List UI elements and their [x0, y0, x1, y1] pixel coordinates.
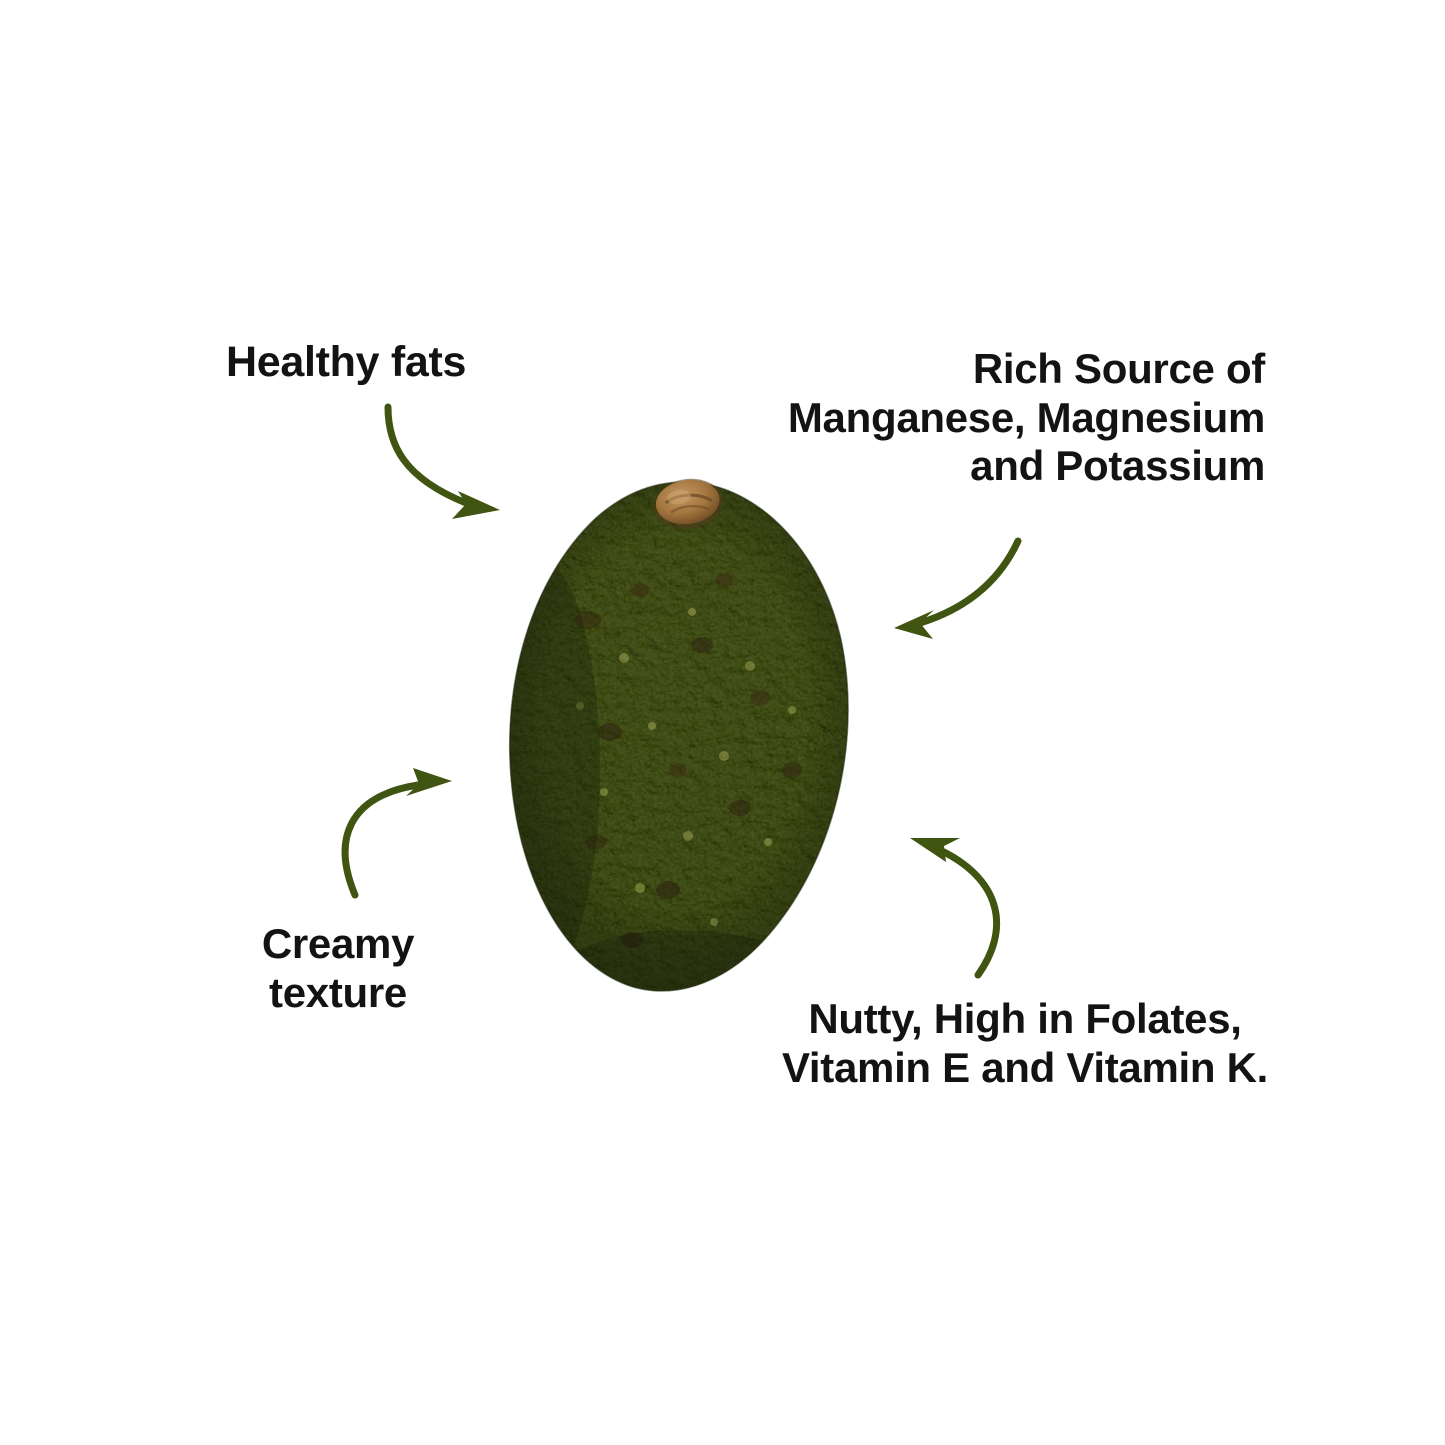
arrow-healthy-fats — [388, 407, 500, 519]
callout-label-nutty: Nutty, High in Folates, Vitamin E and Vi… — [782, 995, 1268, 1092]
callout-label-healthy-fats: Healthy fats — [226, 338, 466, 388]
avocado-body — [492, 470, 877, 1015]
avocado-illustration — [492, 470, 877, 1015]
arrow-creamy-texture — [345, 768, 452, 895]
callout-label-creamy-texture: Creamy texture — [258, 920, 418, 1017]
avocado-image — [492, 470, 877, 1015]
arrow-nutty — [910, 838, 997, 975]
arrow-rich-source — [894, 541, 1018, 639]
infographic-canvas: Healthy fats Rich Source of Manganese, M… — [0, 0, 1445, 1445]
callout-label-rich-source: Rich Source of Manganese, Magnesium and … — [788, 345, 1265, 491]
